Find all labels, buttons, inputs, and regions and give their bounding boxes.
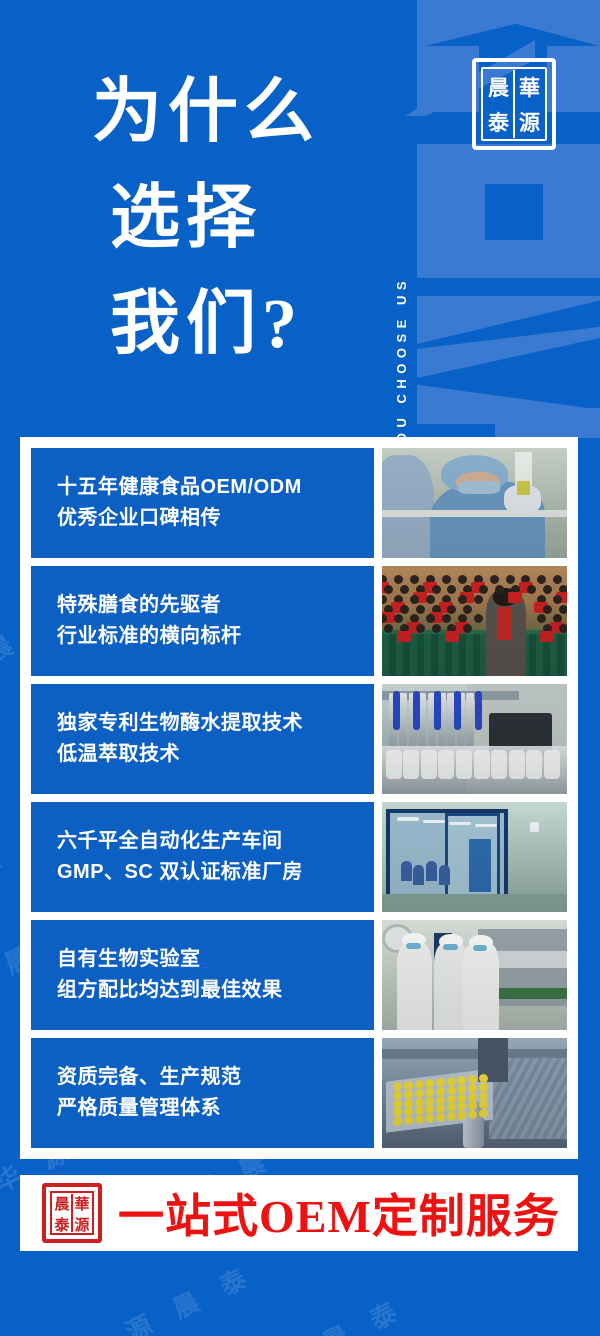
photo-detail <box>519 582 533 593</box>
title-line-2: 选择 <box>92 166 412 272</box>
photo-detail <box>447 693 455 746</box>
photo-detail <box>410 575 419 584</box>
photo-detail <box>553 595 562 604</box>
photo-detail <box>457 1111 466 1120</box>
photo-detail <box>508 592 522 603</box>
photo-detail <box>436 1087 445 1096</box>
photo-detail <box>457 1094 466 1103</box>
photo-detail <box>474 595 483 604</box>
photo-detail <box>409 693 417 746</box>
photo-detail <box>495 585 504 594</box>
list-item[interactable]: 特殊膳食的先驱者 行业标准的横向标杆 <box>31 566 567 676</box>
seal-divider <box>513 70 515 138</box>
photo-detail <box>526 750 542 779</box>
photo-detail <box>382 614 387 623</box>
photo-detail <box>438 750 454 779</box>
photo-detail <box>382 575 387 584</box>
photo-detail <box>474 575 483 584</box>
footer-seal-char-bottom-right: 源 <box>72 1214 92 1235</box>
photo-detail <box>473 945 488 951</box>
photo-detail <box>393 1100 402 1109</box>
photo-detail <box>406 943 421 949</box>
photo-detail <box>457 1085 466 1094</box>
seal-char-top-left: 晨 <box>483 69 514 104</box>
photo-detail <box>527 585 536 594</box>
photo-detail <box>428 693 436 746</box>
list-item[interactable]: 独家专利生物酶水提取技术 低温萃取技术 <box>31 684 567 794</box>
photo-detail <box>442 614 451 623</box>
photo-detail <box>413 691 420 731</box>
photo-detail <box>393 1108 402 1117</box>
feature-line-2: 低温萃取技术 <box>57 739 374 770</box>
feature-line-1: 十五年健康食品OEM/ODM <box>57 472 374 503</box>
feature-line-2: GMP、SC 双认证标准厂房 <box>57 857 374 888</box>
photo-detail <box>537 595 546 604</box>
feature-photo-blister-packaging-capsules <box>382 1038 567 1148</box>
photo-detail <box>447 1103 456 1112</box>
feature-line-1: 特殊膳食的先驱者 <box>57 590 374 621</box>
photo-detail <box>413 865 424 885</box>
footer-seal-char-top-left: 晨 <box>52 1193 72 1214</box>
vertical-english-subtitle: DID YOU CHOOSE US <box>390 28 414 398</box>
feature-line-2: 组方配比均达到最佳效果 <box>57 975 374 1006</box>
list-item[interactable]: 自有生物实验室 组方配比均达到最佳效果 <box>31 920 567 1030</box>
photo-detail <box>559 605 567 614</box>
photo-detail <box>436 1113 445 1122</box>
photo-detail <box>553 575 562 584</box>
photo-detail <box>553 614 562 623</box>
feature-photo-cleanroom-corridor <box>382 802 567 912</box>
photo-detail <box>537 614 546 623</box>
feature-text-box: 特殊膳食的先驱者 行业标准的横向标杆 <box>31 566 374 676</box>
photo-detail <box>403 750 419 779</box>
photo-detail <box>397 817 419 820</box>
photo-detail <box>432 624 441 633</box>
photo-detail <box>468 1075 477 1084</box>
footer-banner: 晨 華 泰 源 一站式OEM定制服务 <box>20 1175 578 1251</box>
photo-detail <box>416 605 425 614</box>
photo-detail <box>439 865 450 885</box>
photo-detail <box>397 631 411 642</box>
photo-detail <box>559 624 567 633</box>
photo-detail <box>445 631 459 642</box>
photo-detail <box>457 1076 466 1085</box>
footer-seal-divider <box>71 1194 73 1232</box>
photo-detail <box>458 614 467 623</box>
photo-detail <box>471 582 485 593</box>
photo-detail <box>468 1084 477 1093</box>
photo-detail <box>468 1101 477 1110</box>
photo-detail <box>559 585 567 594</box>
footer-seal-logo: 晨 華 泰 源 <box>42 1183 102 1243</box>
photo-detail <box>479 1074 488 1083</box>
seal-char-bottom-left: 泰 <box>483 104 514 139</box>
photo-detail <box>479 585 488 594</box>
feature-photo-conference-audience-hall <box>382 566 567 676</box>
photo-detail <box>413 592 427 603</box>
feature-photo-liquid-filling-production-line <box>382 684 567 794</box>
photo-detail <box>434 691 441 731</box>
feature-text-box: 十五年健康食品OEM/ODM 优秀企业口碑相传 <box>31 448 374 558</box>
brand-seal-logo: 晨 華 泰 源 <box>472 58 556 150</box>
photo-detail <box>475 691 482 731</box>
photo-detail <box>415 1080 424 1089</box>
photo-detail <box>468 1093 477 1102</box>
feature-line-2: 行业标准的横向标杆 <box>57 621 374 652</box>
photo-detail <box>543 605 552 614</box>
photo-detail <box>386 750 402 779</box>
photo-detail <box>442 575 451 584</box>
feature-line-1: 资质完备、生产规范 <box>57 1062 374 1093</box>
photo-detail <box>393 1082 402 1091</box>
photo-detail <box>457 1102 466 1111</box>
photo-detail <box>463 585 472 594</box>
photo-detail <box>391 602 405 613</box>
photo-detail <box>447 1077 456 1086</box>
feature-text-box: 独家专利生物酶水提取技术 低温萃取技术 <box>31 684 374 794</box>
photo-detail <box>393 1091 402 1100</box>
photo-detail <box>429 612 443 623</box>
photo-detail <box>458 575 467 584</box>
photo-detail <box>457 693 465 746</box>
list-item[interactable]: 十五年健康食品OEM/ODM 优秀企业口碑相传 <box>31 448 567 558</box>
photo-detail <box>466 693 474 746</box>
photo-detail <box>401 861 412 881</box>
photo-detail <box>537 575 546 584</box>
photo-detail <box>410 595 419 604</box>
photo-detail <box>426 575 435 584</box>
photo-detail <box>434 944 469 1030</box>
photo-detail <box>399 693 407 746</box>
photo-detail <box>418 693 426 746</box>
photo-detail <box>479 1100 488 1109</box>
photo-detail <box>490 575 499 584</box>
photo-detail <box>415 1089 424 1098</box>
photo-detail <box>415 1115 424 1124</box>
features-panel: 十五年健康食品OEM/ODM 优秀企业口碑相传 特殊膳食的先驱者 行业标准的横向… <box>20 437 578 1159</box>
watermark-row: 华 源 晨 泰 <box>270 1308 600 1336</box>
photo-detail <box>384 624 393 633</box>
feature-line-2: 严格质量管理体系 <box>57 1093 374 1124</box>
list-item[interactable]: 六千平全自动化生产车间 GMP、SC 双认证标准厂房 <box>31 802 567 912</box>
photo-detail <box>530 822 539 832</box>
photo-detail <box>426 861 437 881</box>
photo-detail <box>394 575 403 584</box>
photo-detail <box>506 575 515 584</box>
seal-char-top-right: 華 <box>514 69 545 104</box>
photo-detail <box>556 592 567 603</box>
photo-detail <box>394 595 403 604</box>
photo-detail <box>543 585 552 594</box>
photo-detail <box>439 934 463 948</box>
photo-detail <box>458 595 467 604</box>
poster-header: 为什么 选择 我们? DID YOU CHOOSE US 晨 華 泰 源 <box>0 0 600 438</box>
photo-detail <box>404 1090 413 1099</box>
photo-detail <box>491 750 507 779</box>
photo-detail <box>400 585 409 594</box>
photo-detail <box>454 691 461 731</box>
photo-detail <box>400 605 409 614</box>
photo-detail <box>474 750 490 779</box>
feature-line-1: 自有生物实验室 <box>57 944 374 975</box>
photo-detail <box>469 935 493 949</box>
photo-detail <box>447 624 456 633</box>
photo-detail <box>426 614 435 623</box>
photo-detail <box>443 944 458 950</box>
photo-detail <box>432 585 441 594</box>
photo-detail <box>425 1105 434 1114</box>
features-list: 十五年健康食品OEM/ODM 优秀企业口碑相传 特殊膳食的先驱者 行业标准的横向… <box>31 448 567 1148</box>
photo-detail <box>382 612 395 623</box>
photo-detail <box>474 614 483 623</box>
photo-detail <box>415 1106 424 1115</box>
photo-detail <box>447 585 456 594</box>
photo-detail <box>463 624 472 633</box>
photo-detail <box>447 1112 456 1121</box>
photo-detail <box>404 1116 413 1125</box>
photo-detail <box>402 933 426 947</box>
feature-text-box: 自有生物实验室 组方配比均达到最佳效果 <box>31 920 374 1030</box>
photo-detail <box>404 1081 413 1090</box>
photo-detail <box>389 693 397 746</box>
photo-detail <box>438 693 446 746</box>
photo-detail <box>432 605 441 614</box>
feature-line-2: 优秀企业口碑相传 <box>57 503 374 534</box>
photo-detail <box>382 595 387 604</box>
photo-detail <box>423 582 437 593</box>
photo-detail <box>393 691 400 731</box>
feature-line-1: 独家专利生物酶水提取技术 <box>57 708 374 739</box>
photo-detail <box>439 602 453 613</box>
photo-detail <box>436 1104 445 1113</box>
photo-detail <box>394 614 403 623</box>
photo-detail <box>384 605 393 614</box>
footer-slogan: 一站式OEM定制服务 <box>118 1180 560 1246</box>
photo-detail <box>415 1098 424 1107</box>
photo-detail <box>384 585 393 594</box>
photo-detail <box>421 750 437 779</box>
title-line-1: 为什么 <box>92 60 412 166</box>
photo-detail <box>404 1099 413 1108</box>
photo-detail <box>468 1110 477 1119</box>
photo-detail <box>400 624 409 633</box>
feature-photo-workers-white-coats-production <box>382 920 567 1030</box>
photo-detail <box>534 602 548 613</box>
title-line-3: 我们? <box>92 272 412 378</box>
photo-detail <box>479 1092 488 1101</box>
feature-photo-lab-technician-inspecting-vial <box>382 448 567 558</box>
footer-seal-char-top-right: 華 <box>72 1193 92 1214</box>
photo-detail <box>463 944 498 1030</box>
photo-detail <box>463 605 472 614</box>
photo-detail <box>393 1117 402 1126</box>
photo-detail <box>416 624 425 633</box>
photo-detail <box>479 1083 488 1092</box>
photo-detail <box>423 820 445 823</box>
photo-detail <box>426 595 435 604</box>
photo-detail <box>511 585 520 594</box>
list-item[interactable]: 资质完备、生产规范 严格质量管理体系 <box>31 1038 567 1148</box>
photo-detail <box>455 622 469 633</box>
seal-char-bottom-right: 源 <box>514 104 545 139</box>
photo-detail <box>436 1096 445 1105</box>
photo-detail <box>425 1114 434 1123</box>
photo-detail <box>544 750 560 779</box>
feature-line-1: 六千平全自动化生产车间 <box>57 826 374 857</box>
feature-text-box: 资质完备、生产规范 严格质量管理体系 <box>31 1038 374 1148</box>
photo-detail <box>425 1088 434 1097</box>
photo-detail <box>410 614 419 623</box>
photo-detail <box>521 575 530 584</box>
photo-detail <box>479 1109 488 1118</box>
photo-detail <box>449 822 471 825</box>
photo-detail <box>550 622 564 633</box>
photo-detail <box>416 585 425 594</box>
photo-detail <box>540 631 554 642</box>
photo-detail <box>436 1078 445 1087</box>
page-title: 为什么 选择 我们? <box>92 60 412 378</box>
photo-detail <box>425 1097 434 1106</box>
photo-detail <box>456 750 472 779</box>
photo-detail <box>407 622 421 633</box>
photo-detail <box>543 624 552 633</box>
photo-detail <box>509 750 525 779</box>
footer-seal-char-bottom-left: 泰 <box>52 1214 72 1235</box>
photo-detail <box>442 595 451 604</box>
photo-detail <box>397 944 432 1030</box>
photo-detail <box>475 824 497 827</box>
photo-detail <box>404 1107 413 1116</box>
feature-text-box: 六千平全自动化生产车间 GMP、SC 双认证标准厂房 <box>31 802 374 912</box>
photo-detail <box>447 1095 456 1104</box>
photo-detail <box>382 582 389 593</box>
photo-detail <box>460 592 474 603</box>
photo-detail <box>447 1086 456 1095</box>
photo-detail <box>425 1079 434 1088</box>
photo-detail <box>447 605 456 614</box>
